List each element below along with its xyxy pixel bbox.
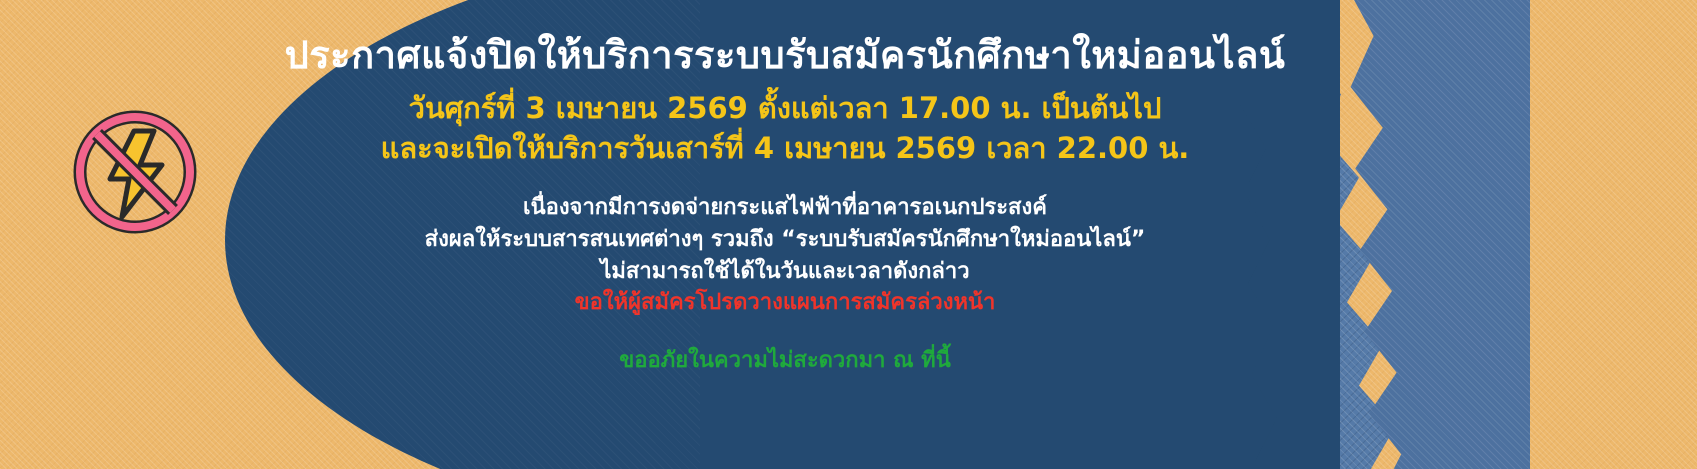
page-title: ประกาศแจ้งปิดให้บริการระบบรับสมัครนักศึก… — [240, 34, 1330, 78]
reason-line-1: เนื่องจากมีการงดจ่ายกระแสไฟฟ้าที่อาคารอเ… — [240, 192, 1330, 224]
no-electricity-icon — [72, 109, 198, 235]
closure-end-line: และจะเปิดให้บริการวันเสาร์ที่ 4 เมษายน 2… — [240, 128, 1330, 168]
banner-content: ประกาศแจ้งปิดให้บริการระบบรับสมัครนักศึก… — [240, 0, 1330, 469]
announcement-banner: ประกาศแจ้งปิดให้บริการระบบรับสมัครนักศึก… — [0, 0, 1697, 469]
warning-message: ขอให้ผู้สมัครโปรดวางแผนการสมัครล่วงหน้า — [240, 287, 1330, 319]
reason-line-3: ไม่สามารถใช้ได้ในวันและเวลาดังกล่าว — [240, 256, 1330, 288]
reason-line-2: ส่งผลให้ระบบสารสนเทศต่างๆ รวมถึง “ระบบรั… — [240, 224, 1330, 256]
apology-message: ขออภัยในความไม่สะดวกมา ณ ที่นี้ — [240, 345, 1330, 377]
closure-start-line: วันศุกร์ที่ 3 เมษายน 2569 ตั้งแต่เวลา 17… — [240, 88, 1330, 128]
